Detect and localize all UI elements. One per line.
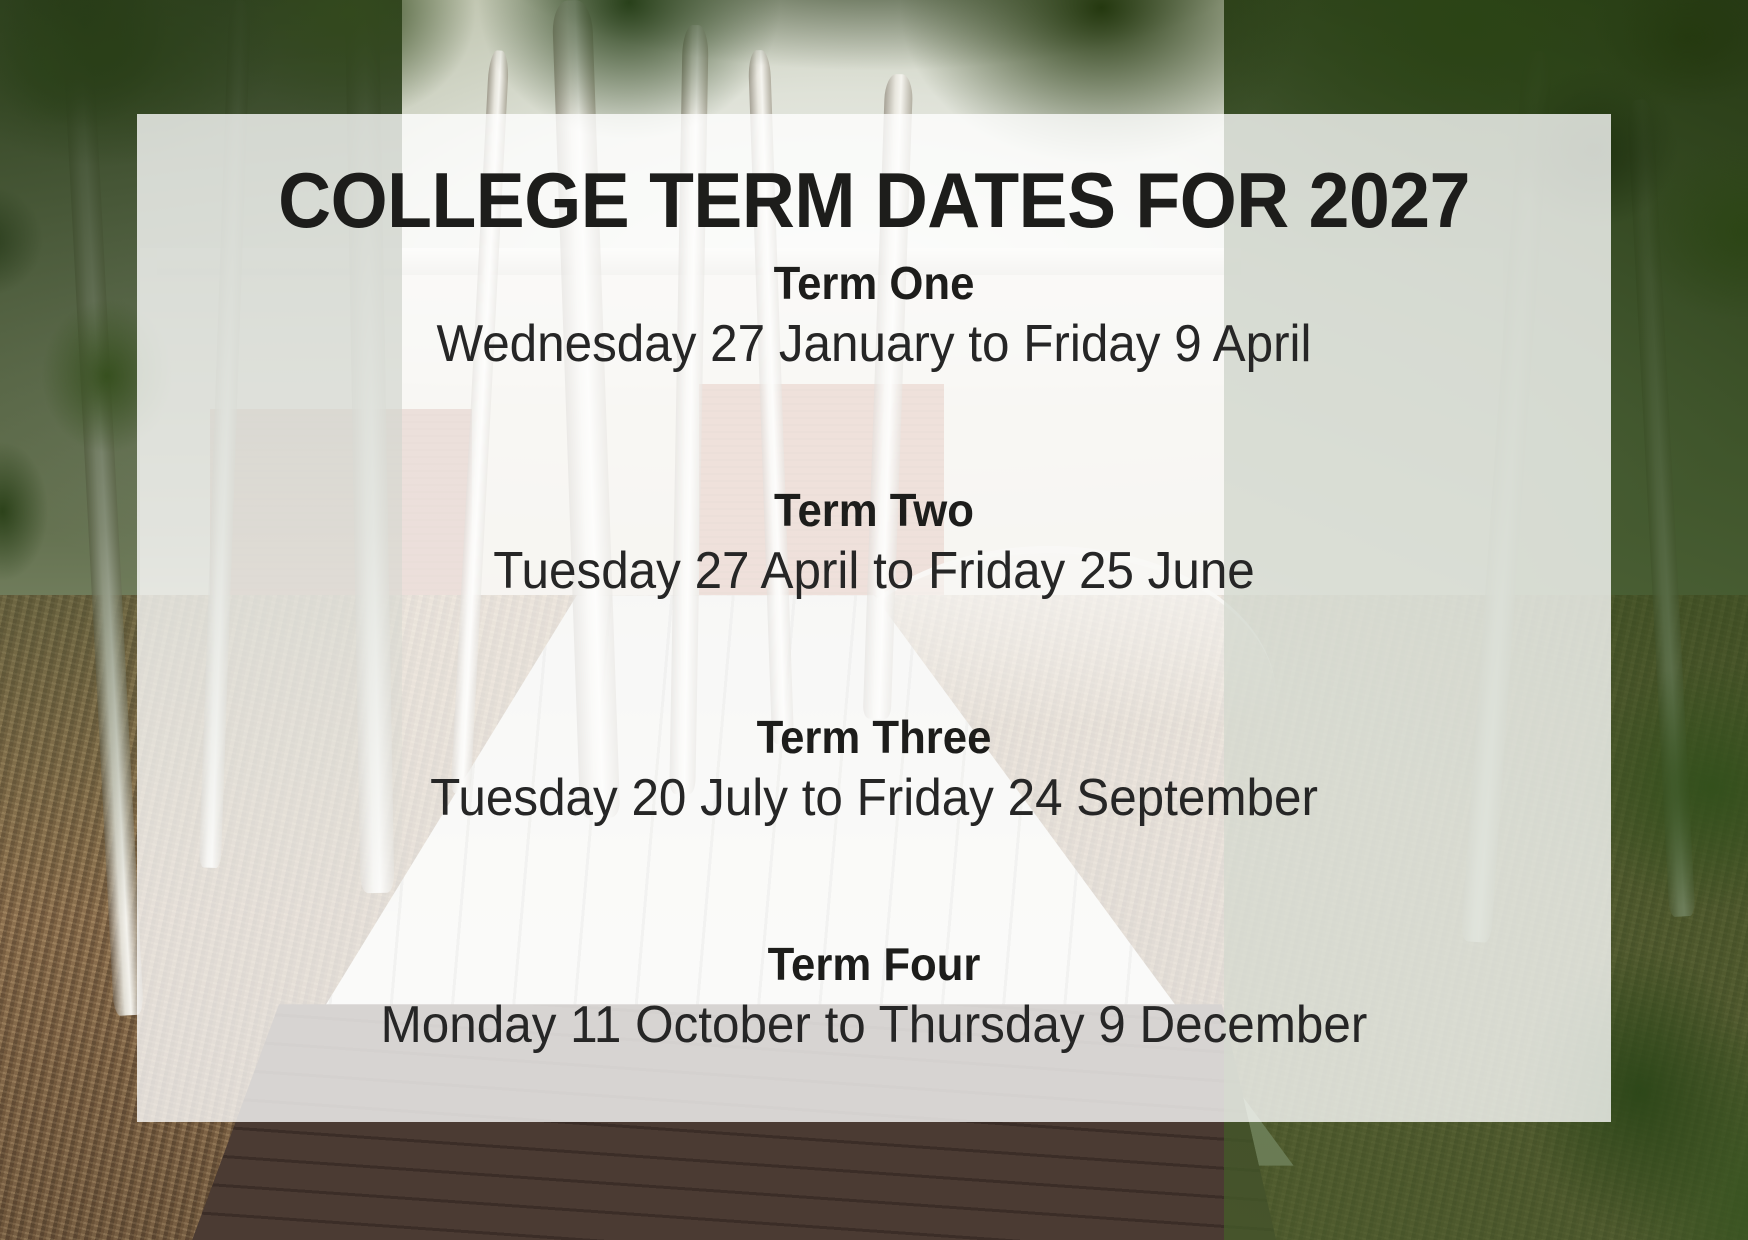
term-one-heading: Term One bbox=[231, 256, 1517, 310]
term-block-four: Term Four Monday 11 October to Thursday … bbox=[197, 937, 1551, 1056]
term-one-dates: Wednesday 27 January to Friday 9 April bbox=[231, 313, 1517, 375]
term-block-two: Term Two Tuesday 27 April to Friday 25 J… bbox=[197, 483, 1551, 602]
term-block-one: Term One Wednesday 27 January to Friday … bbox=[197, 256, 1551, 375]
poster-canvas: COLLEGE TERM DATES FOR 2027 Term One Wed… bbox=[0, 0, 1748, 1240]
term-dates-panel: COLLEGE TERM DATES FOR 2027 Term One Wed… bbox=[137, 114, 1611, 1122]
term-list: Term One Wednesday 27 January to Friday … bbox=[197, 256, 1551, 1082]
term-four-dates: Monday 11 October to Thursday 9 December bbox=[231, 994, 1517, 1056]
term-two-heading: Term Two bbox=[231, 483, 1517, 537]
term-two-dates: Tuesday 27 April to Friday 25 June bbox=[231, 540, 1517, 602]
term-three-dates: Tuesday 20 July to Friday 24 September bbox=[231, 767, 1517, 829]
term-block-three: Term Three Tuesday 20 July to Friday 24 … bbox=[197, 710, 1551, 829]
term-four-heading: Term Four bbox=[231, 937, 1517, 991]
page-title: COLLEGE TERM DATES FOR 2027 bbox=[238, 158, 1511, 242]
term-three-heading: Term Three bbox=[231, 710, 1517, 764]
